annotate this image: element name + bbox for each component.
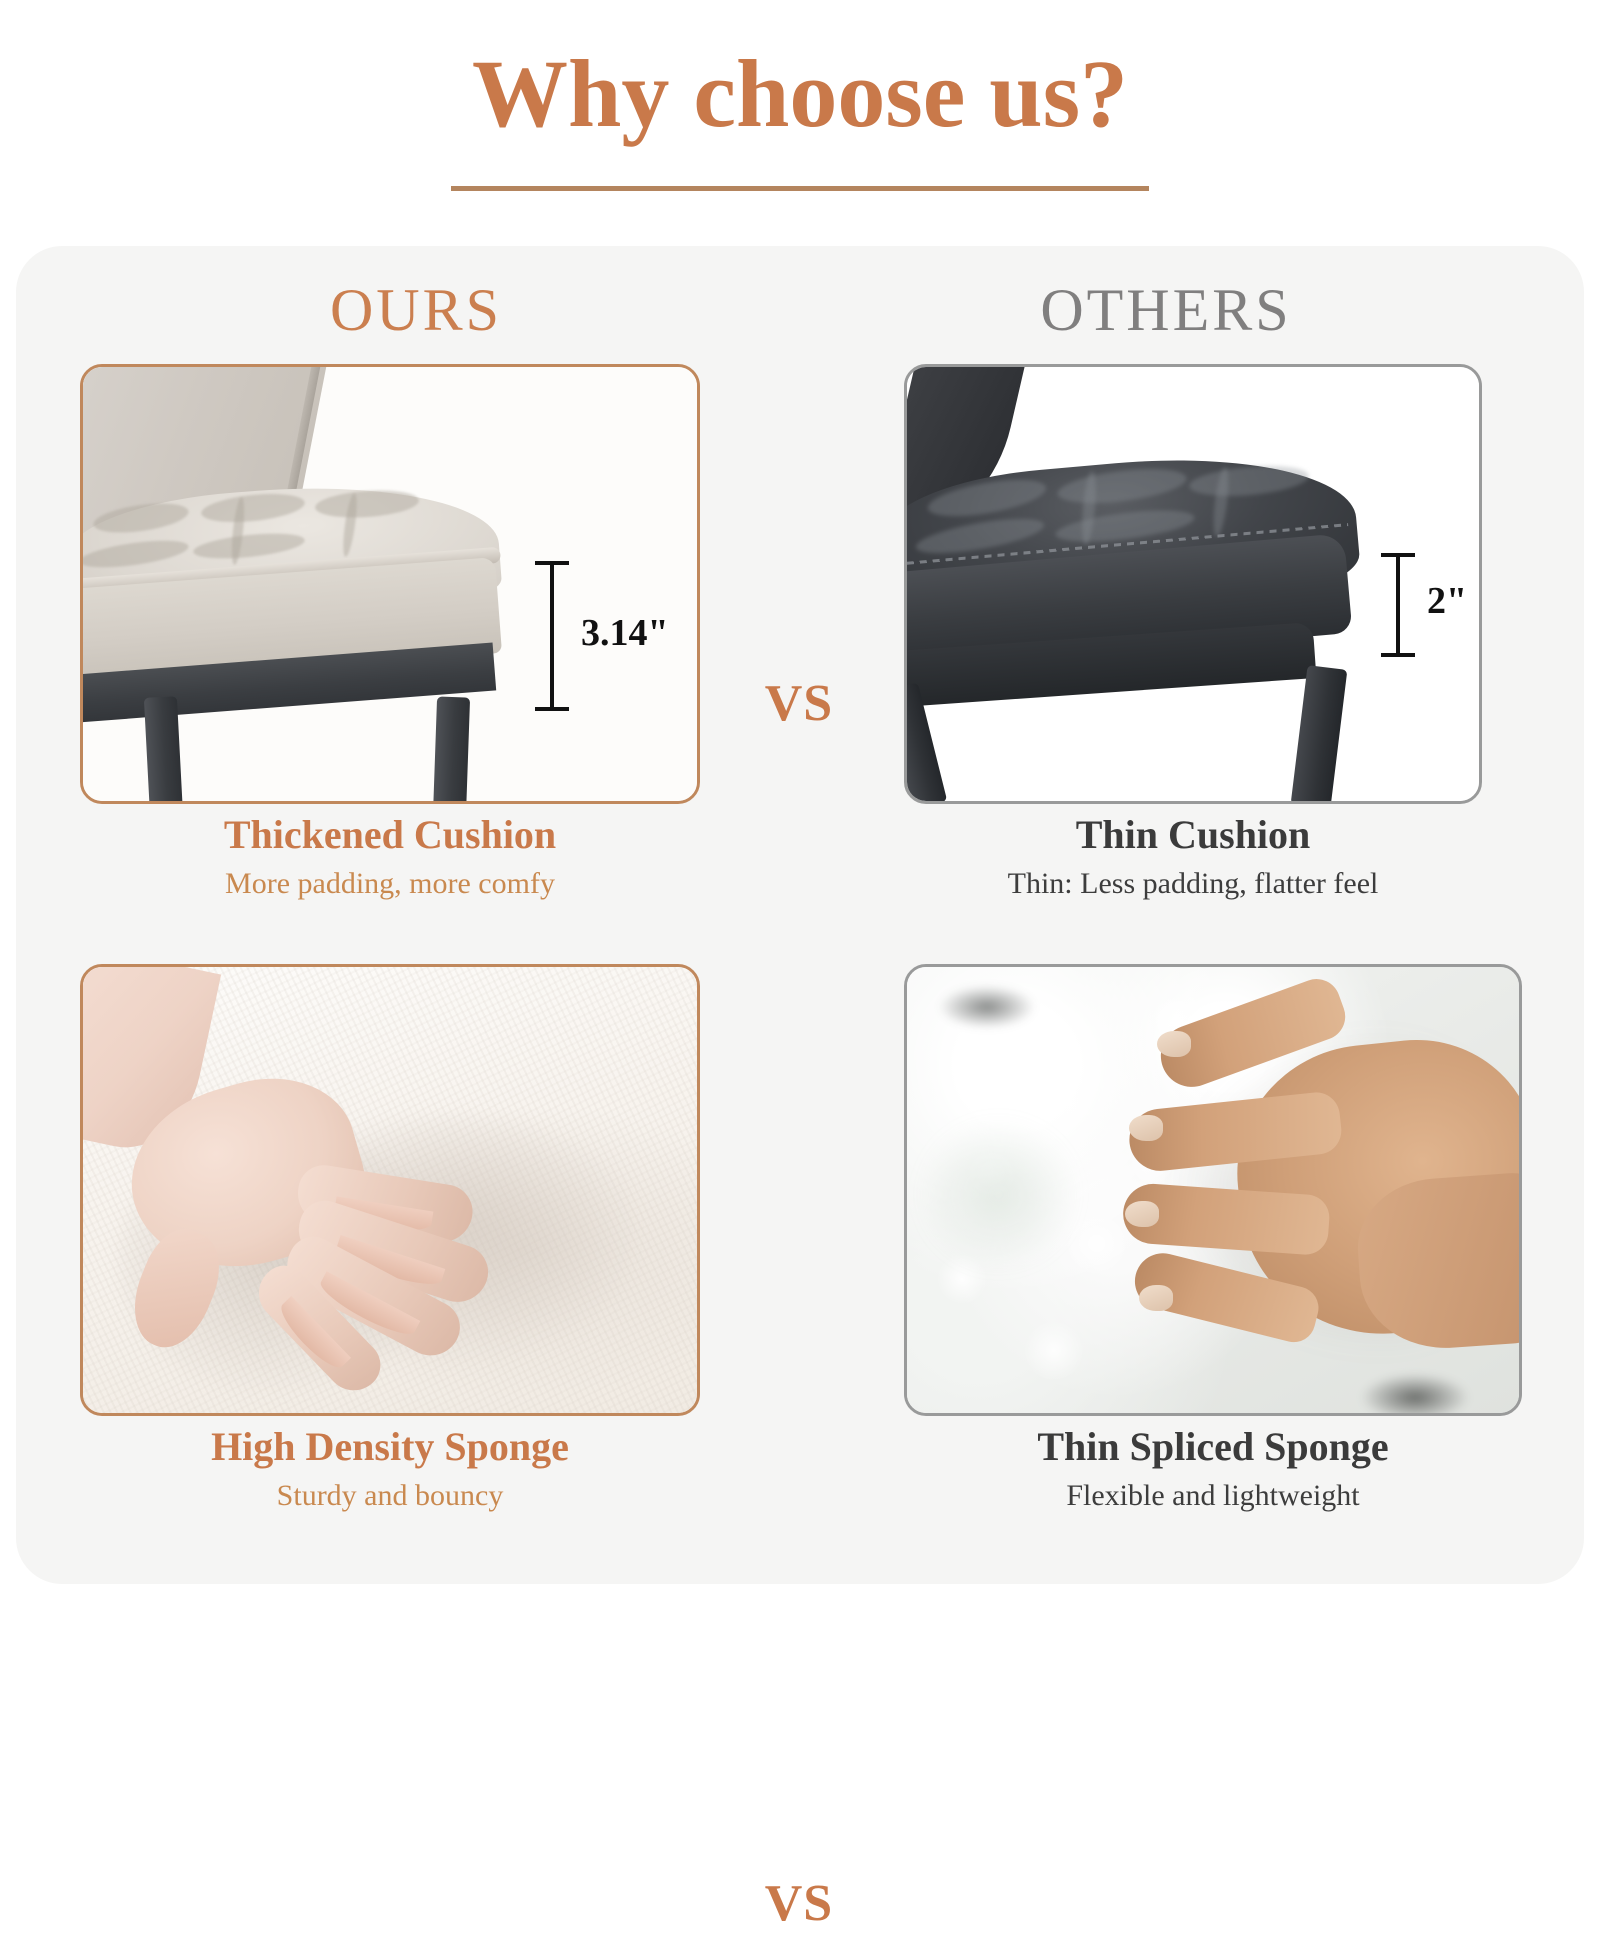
hand-pressing-fiber-fill bbox=[907, 967, 1519, 1413]
caption-subtitle: Sturdy and bouncy bbox=[80, 1476, 700, 1515]
fingernail bbox=[1125, 1201, 1159, 1227]
caption-title: Thickened Cushion bbox=[80, 812, 700, 858]
caption-title: High Density Sponge bbox=[80, 1424, 700, 1470]
chair-leg bbox=[1291, 665, 1348, 804]
chair-leg bbox=[144, 696, 183, 804]
page-title: Why choose us? bbox=[0, 46, 1600, 142]
chair-leg bbox=[433, 696, 470, 804]
high-density-sponge-photo bbox=[80, 964, 700, 1416]
thin-spliced-sponge-photo bbox=[904, 964, 1522, 1416]
dimension-label: 2" bbox=[1427, 579, 1467, 623]
comparison-panel: OURS OTHERS bbox=[16, 246, 1584, 1584]
thickened-cushion-photo: 3.14" bbox=[80, 364, 700, 804]
vs-badge-row-cushion: VS bbox=[724, 674, 874, 733]
caption-title: Thin Spliced Sponge bbox=[904, 1424, 1522, 1470]
cushion-photo-canvas: 3.14" bbox=[83, 367, 697, 801]
column-headers: OURS OTHERS bbox=[16, 270, 1584, 350]
caption-thickened-cushion: Thickened Cushion More padding, more com… bbox=[80, 812, 700, 903]
foam-photo-canvas bbox=[83, 967, 697, 1413]
caption-subtitle: Thin: Less padding, flatter feel bbox=[904, 864, 1482, 903]
column-header-others: OTHERS bbox=[846, 270, 1486, 350]
fiber-fill-photo-canvas bbox=[907, 967, 1519, 1413]
comparison-row-cushion: 3.14" bbox=[16, 364, 1584, 924]
title-underline-divider bbox=[451, 186, 1149, 191]
fingernail bbox=[1157, 1031, 1191, 1057]
dimension-line bbox=[550, 561, 554, 711]
column-header-ours: OURS bbox=[136, 270, 696, 350]
caption-high-density-sponge: High Density Sponge Sturdy and bouncy bbox=[80, 1424, 700, 1515]
dimension-line bbox=[1396, 553, 1400, 657]
dimension-label: 3.14" bbox=[581, 611, 669, 655]
dark-cushion-photo-canvas: 2" bbox=[907, 367, 1479, 801]
dimension-end-cap-bottom bbox=[535, 707, 569, 711]
page-header: Why choose us? bbox=[0, 0, 1600, 191]
caption-thin-cushion: Thin Cushion Thin: Less padding, flatter… bbox=[904, 812, 1482, 903]
thin-cushion-photo: 2" bbox=[904, 364, 1482, 804]
caption-subtitle: Flexible and lightweight bbox=[904, 1476, 1522, 1515]
fingernail bbox=[1129, 1115, 1163, 1141]
comparison-row-sponge: High Density Sponge Sturdy and bouncy Th… bbox=[16, 964, 1584, 1544]
caption-subtitle: More padding, more comfy bbox=[80, 864, 700, 903]
dimension-end-cap-bottom bbox=[1381, 653, 1415, 657]
hand-pressing-foam bbox=[83, 967, 697, 1413]
vs-badge-row-sponge: VS bbox=[724, 1874, 874, 1933]
fingernail bbox=[1139, 1285, 1173, 1311]
caption-title: Thin Cushion bbox=[904, 812, 1482, 858]
caption-thin-spliced-sponge: Thin Spliced Sponge Flexible and lightwe… bbox=[904, 1424, 1522, 1515]
